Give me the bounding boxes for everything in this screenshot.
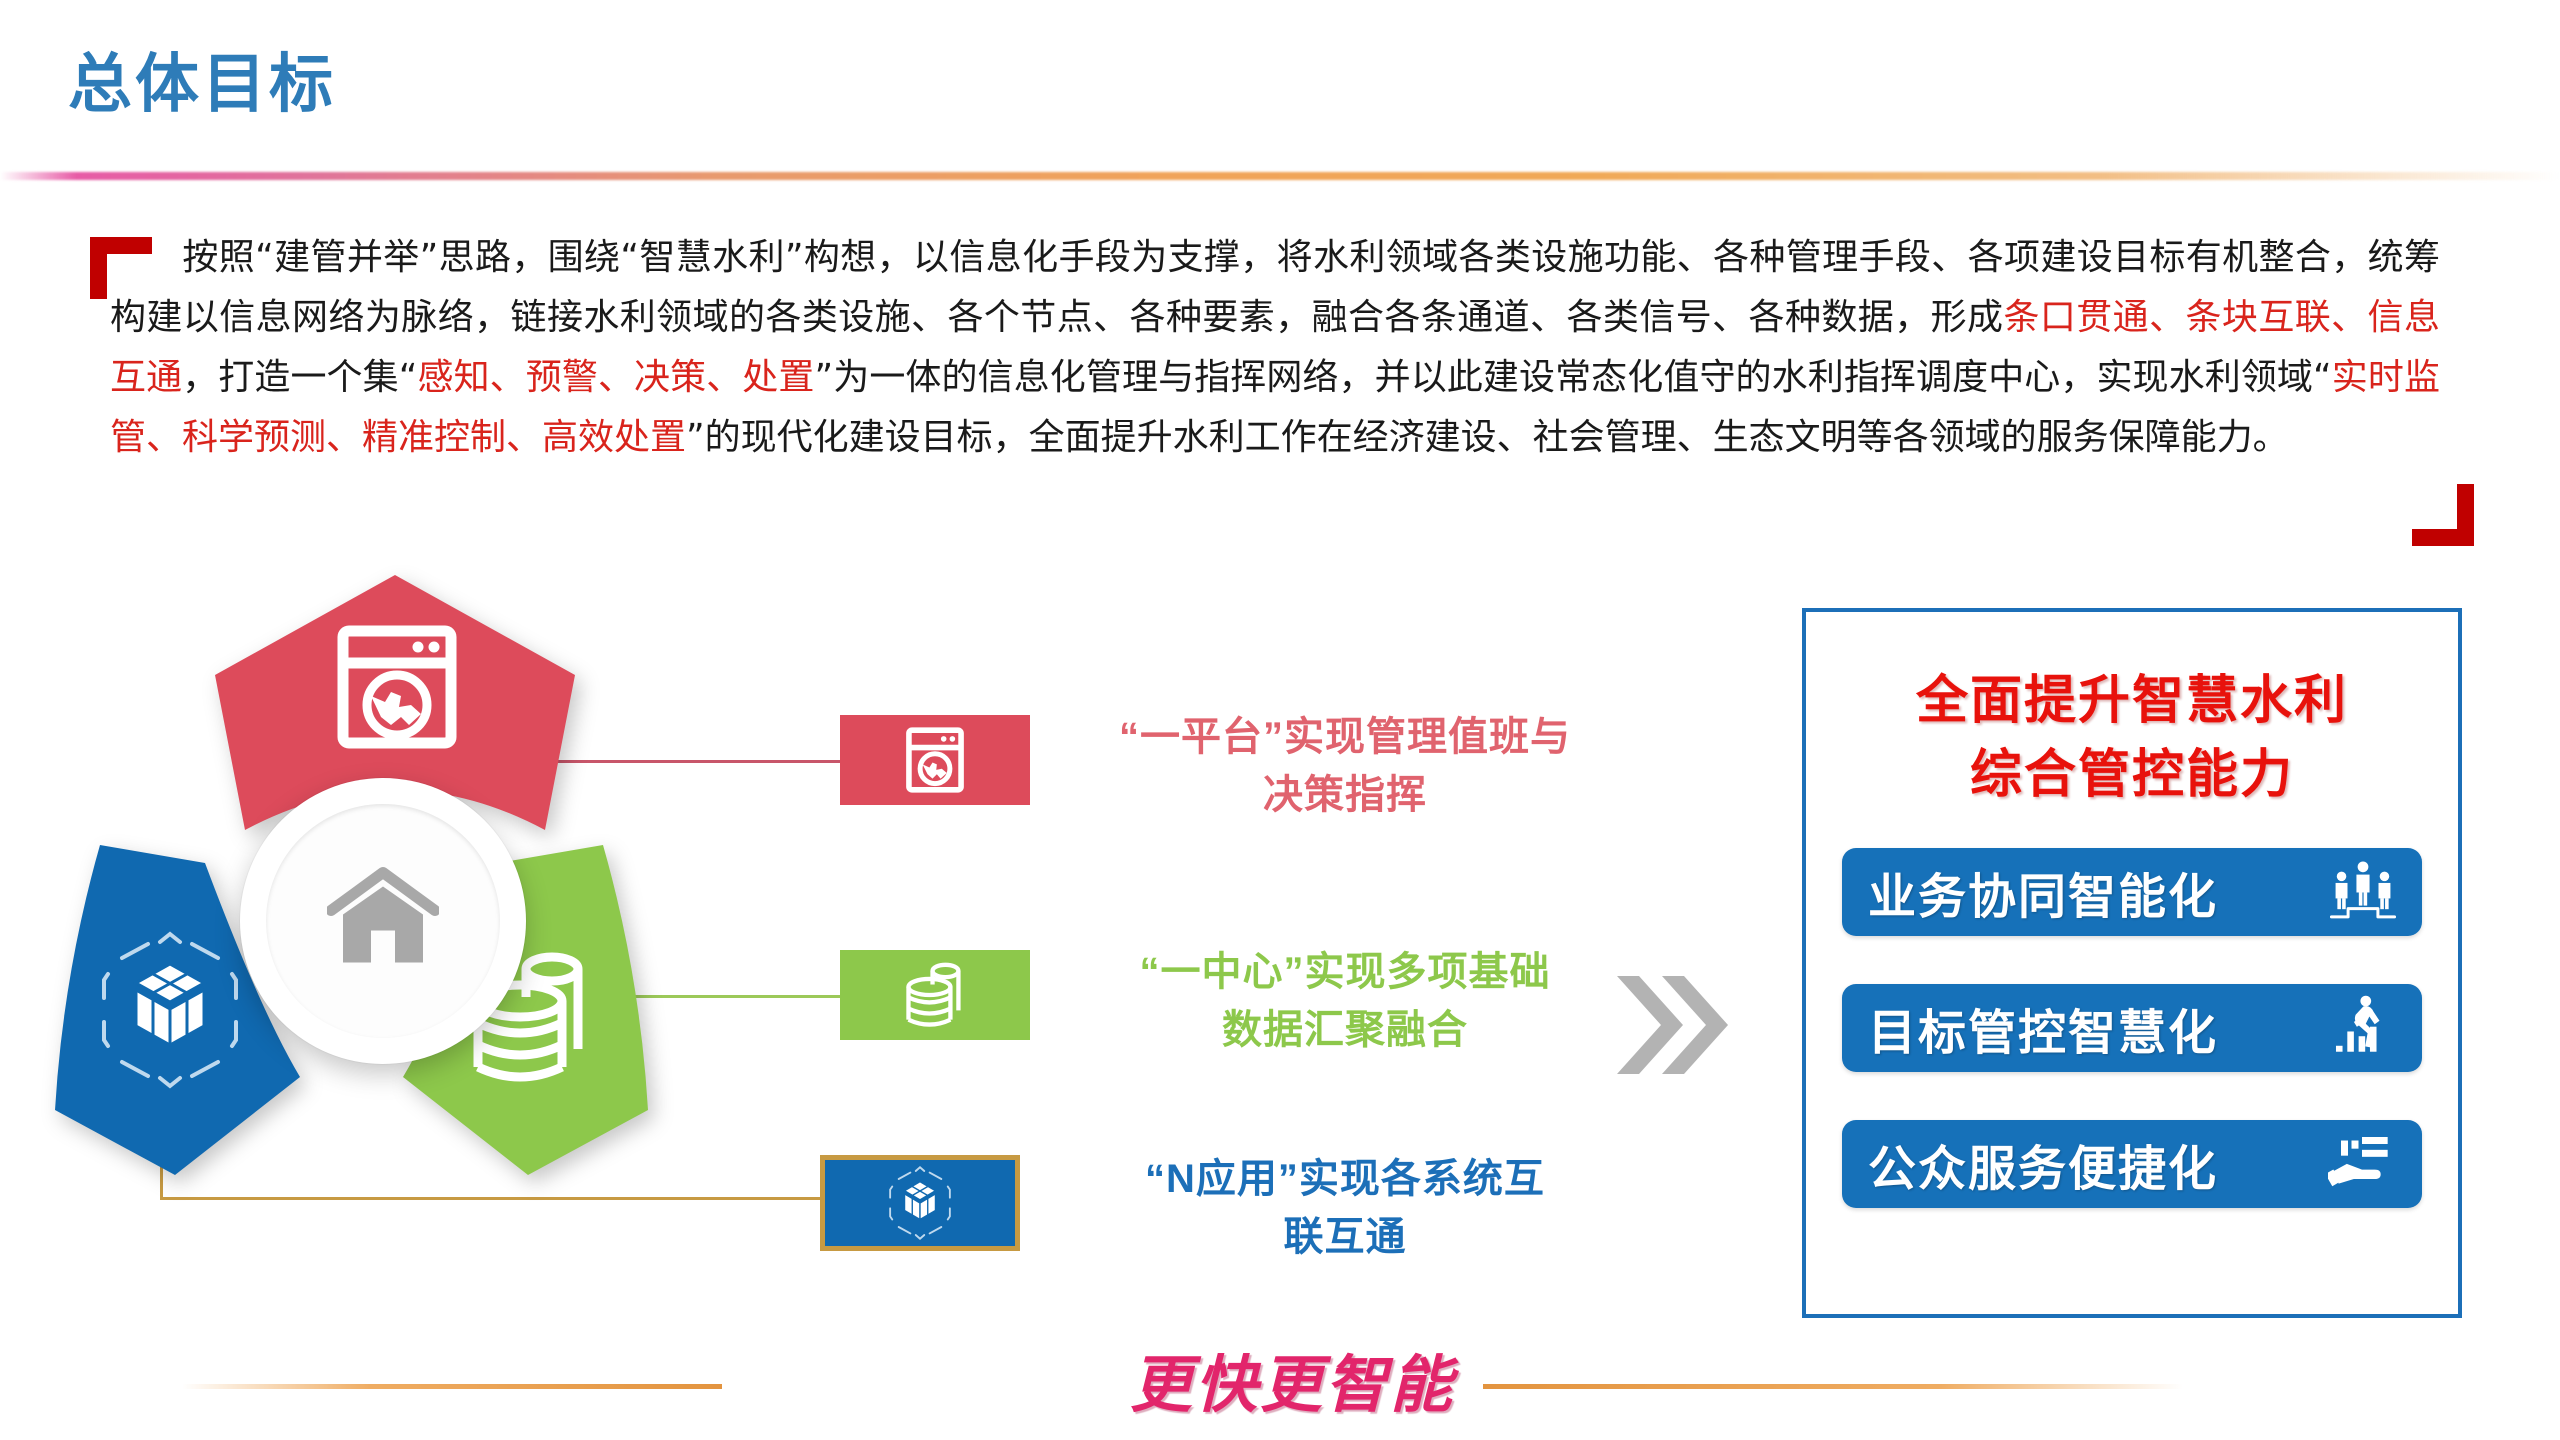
capability-panel-heading-line2: 综合管控能力 xyxy=(1806,738,2458,812)
caption-platform-line2: 决策指挥 xyxy=(1060,766,1630,824)
paragraph-segment-4: ”为一体的信息化管理与指挥网络，并以此建设常态化值守的水利指挥调度中心，实现水利… xyxy=(815,357,2332,398)
page-title: 总体目标 xyxy=(68,52,336,116)
center-hub[interactable] xyxy=(240,778,526,1064)
footer-rule-left xyxy=(182,1384,722,1389)
caption-applications-line1: “N应用”实现各系统互 xyxy=(1060,1150,1630,1208)
capability-pill-goal-control-label: 目标管控智慧化 xyxy=(1868,993,2218,1063)
caption-data-center-line1: “一中心”实现多项基础 xyxy=(1060,943,1630,1001)
capability-pill-goal-control[interactable]: 目标管控智慧化 xyxy=(1842,984,2422,1072)
caption-data-center: “一中心”实现多项基础 数据汇聚融合 xyxy=(1060,943,1630,1059)
footer-slogan: 更快更智能 xyxy=(1130,1334,1430,1424)
paragraph-segment-2: ，打造一个集“ xyxy=(182,357,417,398)
capability-panel: 全面提升智慧水利 综合管控能力 业务协同智能化 xyxy=(1802,608,2462,1318)
chip-applications-icon[interactable] xyxy=(820,1155,1020,1251)
capability-pill-public-service[interactable]: 公众服务便捷化 xyxy=(1842,1120,2422,1208)
footer-rule-right xyxy=(1483,1384,2183,1389)
caption-platform-line1: “一平台”实现管理值班与 xyxy=(1060,708,1630,766)
runner-bar-chart-icon xyxy=(2332,995,2396,1062)
chip-platform-icon[interactable] xyxy=(840,715,1030,805)
capability-panel-heading: 全面提升智慧水利 综合管控能力 xyxy=(1806,664,2458,812)
caption-applications-line2: 联互通 xyxy=(1060,1208,1630,1266)
slide-footer: 更快更智能 xyxy=(0,1328,2560,1440)
paragraph-segment-6: ”的现代化建设目标，全面提升水利工作在经济建设、社会管理、生态文明等各领域的服务… xyxy=(686,417,2289,458)
home-icon xyxy=(327,867,439,976)
caption-platform: “一平台”实现管理值班与 决策指挥 xyxy=(1060,708,1630,824)
paragraph-segment-3: 感知、预警、决策、处置 xyxy=(417,357,814,398)
decorative-bracket-bottom-right xyxy=(2412,484,2474,546)
title-divider xyxy=(0,172,2560,180)
overall-goal-paragraph: 按照“建管并举”思路，围绕“智慧水利”构想，以信息化手段为支撑，将水利领域各类设… xyxy=(110,228,2440,468)
capability-panel-heading-line1: 全面提升智慧水利 xyxy=(1806,664,2458,738)
capability-pill-business-collaboration[interactable]: 业务协同智能化 xyxy=(1842,848,2422,936)
people-podium-icon xyxy=(2330,859,2396,926)
double-chevron-right-icon xyxy=(1615,970,1730,1085)
caption-applications: “N应用”实现各系统互 联互通 xyxy=(1060,1150,1630,1266)
capability-pill-business-collaboration-label: 业务协同智能化 xyxy=(1868,857,2218,927)
chip-data-center-icon[interactable] xyxy=(840,950,1030,1040)
hand-service-icon xyxy=(2328,1134,2396,1195)
caption-data-center-line2: 数据汇聚融合 xyxy=(1060,1001,1630,1059)
capability-pill-public-service-label: 公众服务便捷化 xyxy=(1868,1129,2218,1199)
